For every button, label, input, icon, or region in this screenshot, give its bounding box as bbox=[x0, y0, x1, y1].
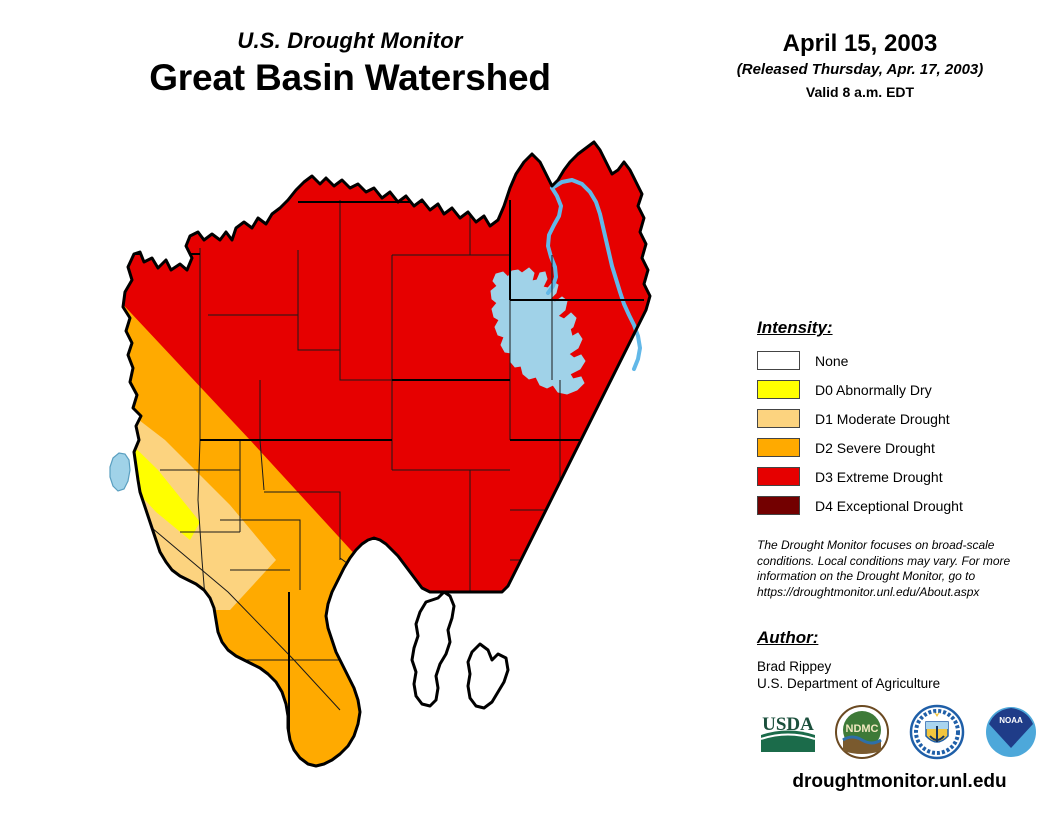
released-date: (Released Thursday, Apr. 17, 2003) bbox=[700, 60, 1020, 80]
legend-item-d0: D0 Abnormally Dry bbox=[757, 375, 1042, 404]
valid-date: April 15, 2003 bbox=[700, 30, 1020, 58]
author-name: Brad Rippey bbox=[757, 658, 1037, 675]
footer-url[interactable]: droughtmonitor.unl.edu bbox=[757, 770, 1042, 794]
legend-label-d3: D3 Extreme Drought bbox=[815, 468, 943, 486]
program-subtitle: U.S. Drought Monitor bbox=[0, 28, 700, 54]
legend-item-d4: D4 Exceptional Drought bbox=[757, 491, 1042, 520]
map-interior-notch bbox=[412, 592, 508, 708]
ndmc-logo-svg: NDMC bbox=[831, 704, 893, 760]
legend-item-none: None bbox=[757, 346, 1042, 375]
noaa-logo-text: NOAA bbox=[999, 716, 1023, 725]
author-affiliation: U.S. Department of Agriculture bbox=[757, 675, 1037, 692]
usda-logo-svg: USDA bbox=[757, 704, 819, 760]
author-block: Author: Brad Rippey U.S. Department of A… bbox=[757, 628, 1037, 692]
legend-item-d1: D1 Moderate Drought bbox=[757, 404, 1042, 433]
legend-label-none: None bbox=[815, 352, 848, 370]
legend-label-d0: D0 Abnormally Dry bbox=[815, 381, 932, 399]
noaa-logo-svg: NOAA bbox=[980, 704, 1042, 760]
agency-logos: USDA NDMC NOAA bbox=[757, 703, 1042, 761]
ndmc-logo: NDMC bbox=[831, 704, 893, 760]
drought-map bbox=[40, 140, 740, 800]
legend: Intensity: None D0 Abnormally Dry D1 Mod… bbox=[757, 318, 1042, 520]
map-title-block: U.S. Drought Monitor Great Basin Watersh… bbox=[0, 28, 700, 100]
legend-swatch-d0 bbox=[757, 380, 800, 399]
legend-swatch-d3 bbox=[757, 467, 800, 486]
western-lake bbox=[110, 453, 130, 491]
usda-logo: USDA bbox=[757, 704, 819, 760]
legend-swatch-d1 bbox=[757, 409, 800, 428]
map-svg bbox=[40, 140, 740, 800]
author-heading: Author: bbox=[757, 628, 1037, 648]
usdc-seal-logo bbox=[906, 704, 968, 760]
legend-swatch-d4 bbox=[757, 496, 800, 515]
usdc-seal-svg bbox=[906, 704, 968, 760]
legend-label-d2: D2 Severe Drought bbox=[815, 439, 935, 457]
legend-swatch-none bbox=[757, 351, 800, 370]
ndmc-logo-text: NDMC bbox=[846, 723, 879, 735]
legend-label-d4: D4 Exceptional Drought bbox=[815, 497, 963, 515]
legend-title: Intensity: bbox=[757, 318, 1042, 338]
date-block: April 15, 2003 (Released Thursday, Apr. … bbox=[700, 30, 1020, 101]
disclaimer-text: The Drought Monitor focuses on broad-sca… bbox=[757, 538, 1019, 600]
legend-swatch-d2 bbox=[757, 438, 800, 457]
legend-item-d2: D2 Severe Drought bbox=[757, 433, 1042, 462]
legend-label-d1: D1 Moderate Drought bbox=[815, 410, 950, 428]
legend-item-d3: D3 Extreme Drought bbox=[757, 462, 1042, 491]
noaa-logo: NOAA bbox=[980, 704, 1042, 760]
valid-time: Valid 8 a.m. EDT bbox=[700, 83, 1020, 101]
page-title: Great Basin Watershed bbox=[0, 56, 700, 100]
